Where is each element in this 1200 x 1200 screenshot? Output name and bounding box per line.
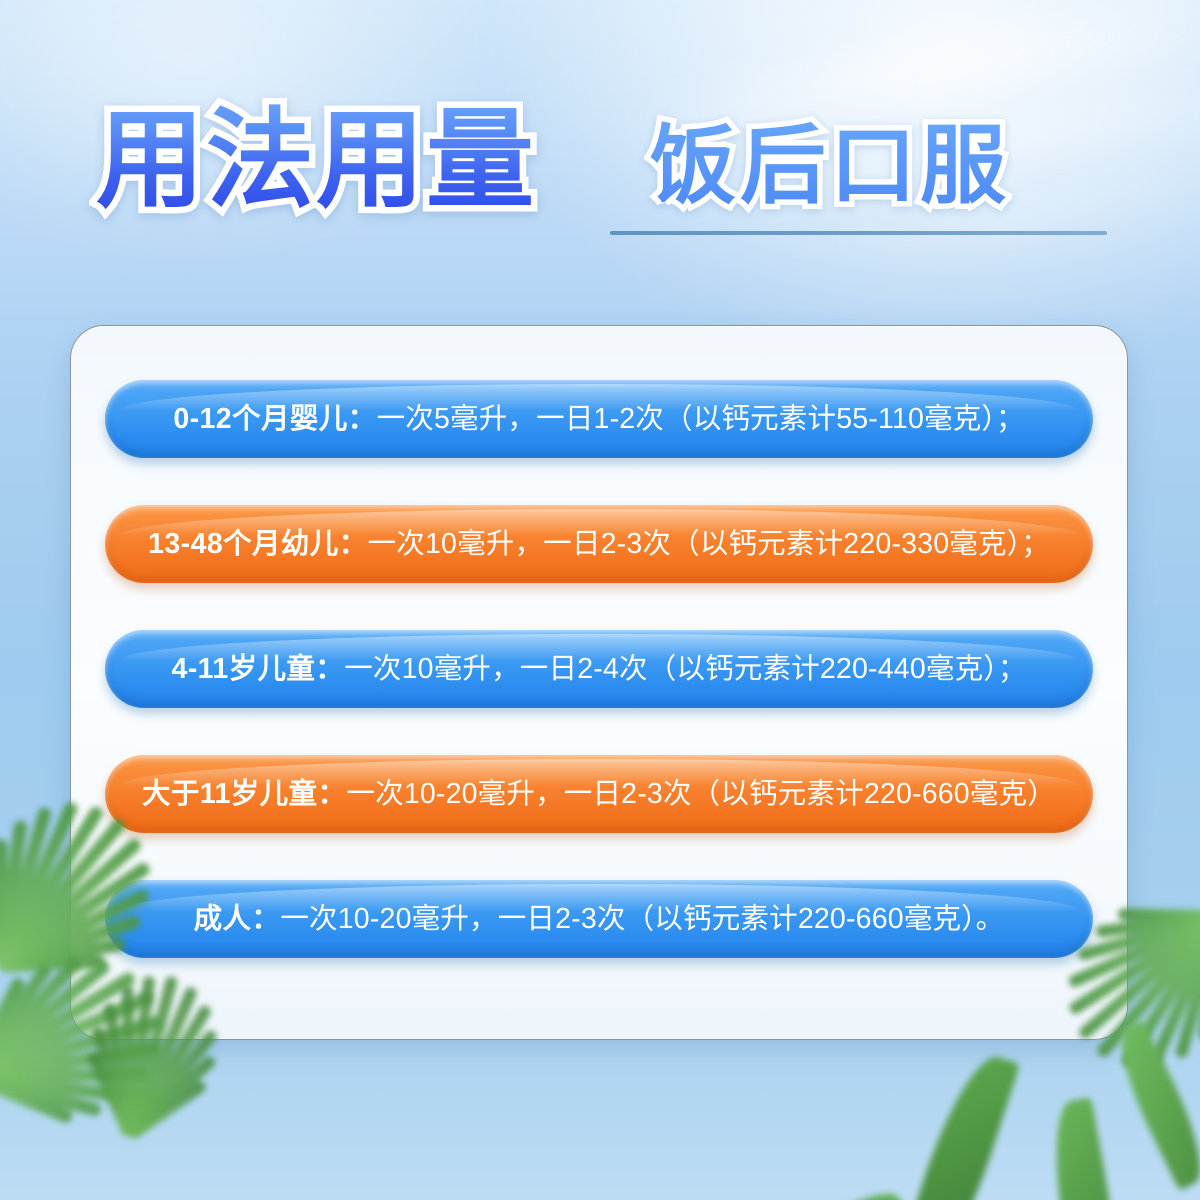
- dosage-row-4: 成人：一次10-20毫升，一日2-3次（以钙元素计220-660毫克）。: [105, 880, 1093, 958]
- dosage-row-text: 4-11岁儿童：一次10毫升，一日2-4次（以钙元素计220-440毫克）；: [146, 630, 1053, 708]
- dosage-detail-label: 一次10毫升，一日2-4次（以钙元素计220-440毫克）；: [344, 653, 1026, 685]
- page-title: 用法用量: [96, 96, 536, 224]
- dosage-detail-label: 一次10毫升，一日2-3次（以钙元素计220-330毫克）；: [368, 528, 1050, 560]
- page-subtitle: 饭后口服: [650, 106, 1010, 226]
- dosage-row-1: 13-48个月幼儿：一次10毫升，一日2-3次（以钙元素计220-330毫克）；: [105, 505, 1093, 583]
- dosage-group-label: 0-12个月婴儿：: [173, 403, 376, 435]
- dosage-row-text: 成人：一次10-20毫升，一日2-3次（以钙元素计220-660毫克）。: [168, 880, 1031, 958]
- dosage-group-label: 13-48个月幼儿：: [148, 528, 367, 560]
- subtitle-underline: [610, 231, 1107, 235]
- dosage-row-2: 4-11岁儿童：一次10毫升，一日2-4次（以钙元素计220-440毫克）；: [105, 630, 1093, 708]
- dosage-detail-label: 一次10-20毫升，一日2-3次（以钙元素计220-660毫克）: [346, 778, 1056, 810]
- dosage-detail-label: 一次10-20毫升，一日2-3次（以钙元素计220-660毫克）。: [280, 903, 1004, 935]
- dosage-list: 0-12个月婴儿：一次5毫升，一日1-2次（以钙元素计55-110毫克）； 13…: [71, 326, 1127, 1039]
- dosage-row-text: 13-48个月幼儿：一次10毫升，一日2-3次（以钙元素计220-330毫克）；: [122, 505, 1076, 583]
- dosage-row-text: 0-12个月婴儿：一次5毫升，一日1-2次（以钙元素计55-110毫克）；: [147, 380, 1050, 458]
- dosage-group-label: 大于11岁儿童：: [142, 778, 346, 810]
- dosage-group-label: 4-11岁儿童：: [172, 653, 345, 685]
- dosage-group-label: 成人：: [194, 903, 281, 935]
- poster-stage: 用法用量 用法用量 饭后口服 饭后口服 0-12个月婴儿：一次5毫升，一日1-2…: [0, 0, 1200, 1200]
- dosage-detail-label: 一次5毫升，一日1-2次（以钙元素计55-110毫克）；: [377, 403, 1025, 435]
- dosage-row-text: 大于11岁儿童：一次10-20毫升，一日2-3次（以钙元素计220-660毫克）: [116, 755, 1082, 833]
- dosage-card: 0-12个月婴儿：一次5毫升，一日1-2次（以钙元素计55-110毫克）； 13…: [70, 325, 1128, 1040]
- dosage-row-3: 大于11岁儿童：一次10-20毫升，一日2-3次（以钙元素计220-660毫克）: [105, 755, 1093, 833]
- dosage-row-0: 0-12个月婴儿：一次5毫升，一日1-2次（以钙元素计55-110毫克）；: [105, 380, 1093, 458]
